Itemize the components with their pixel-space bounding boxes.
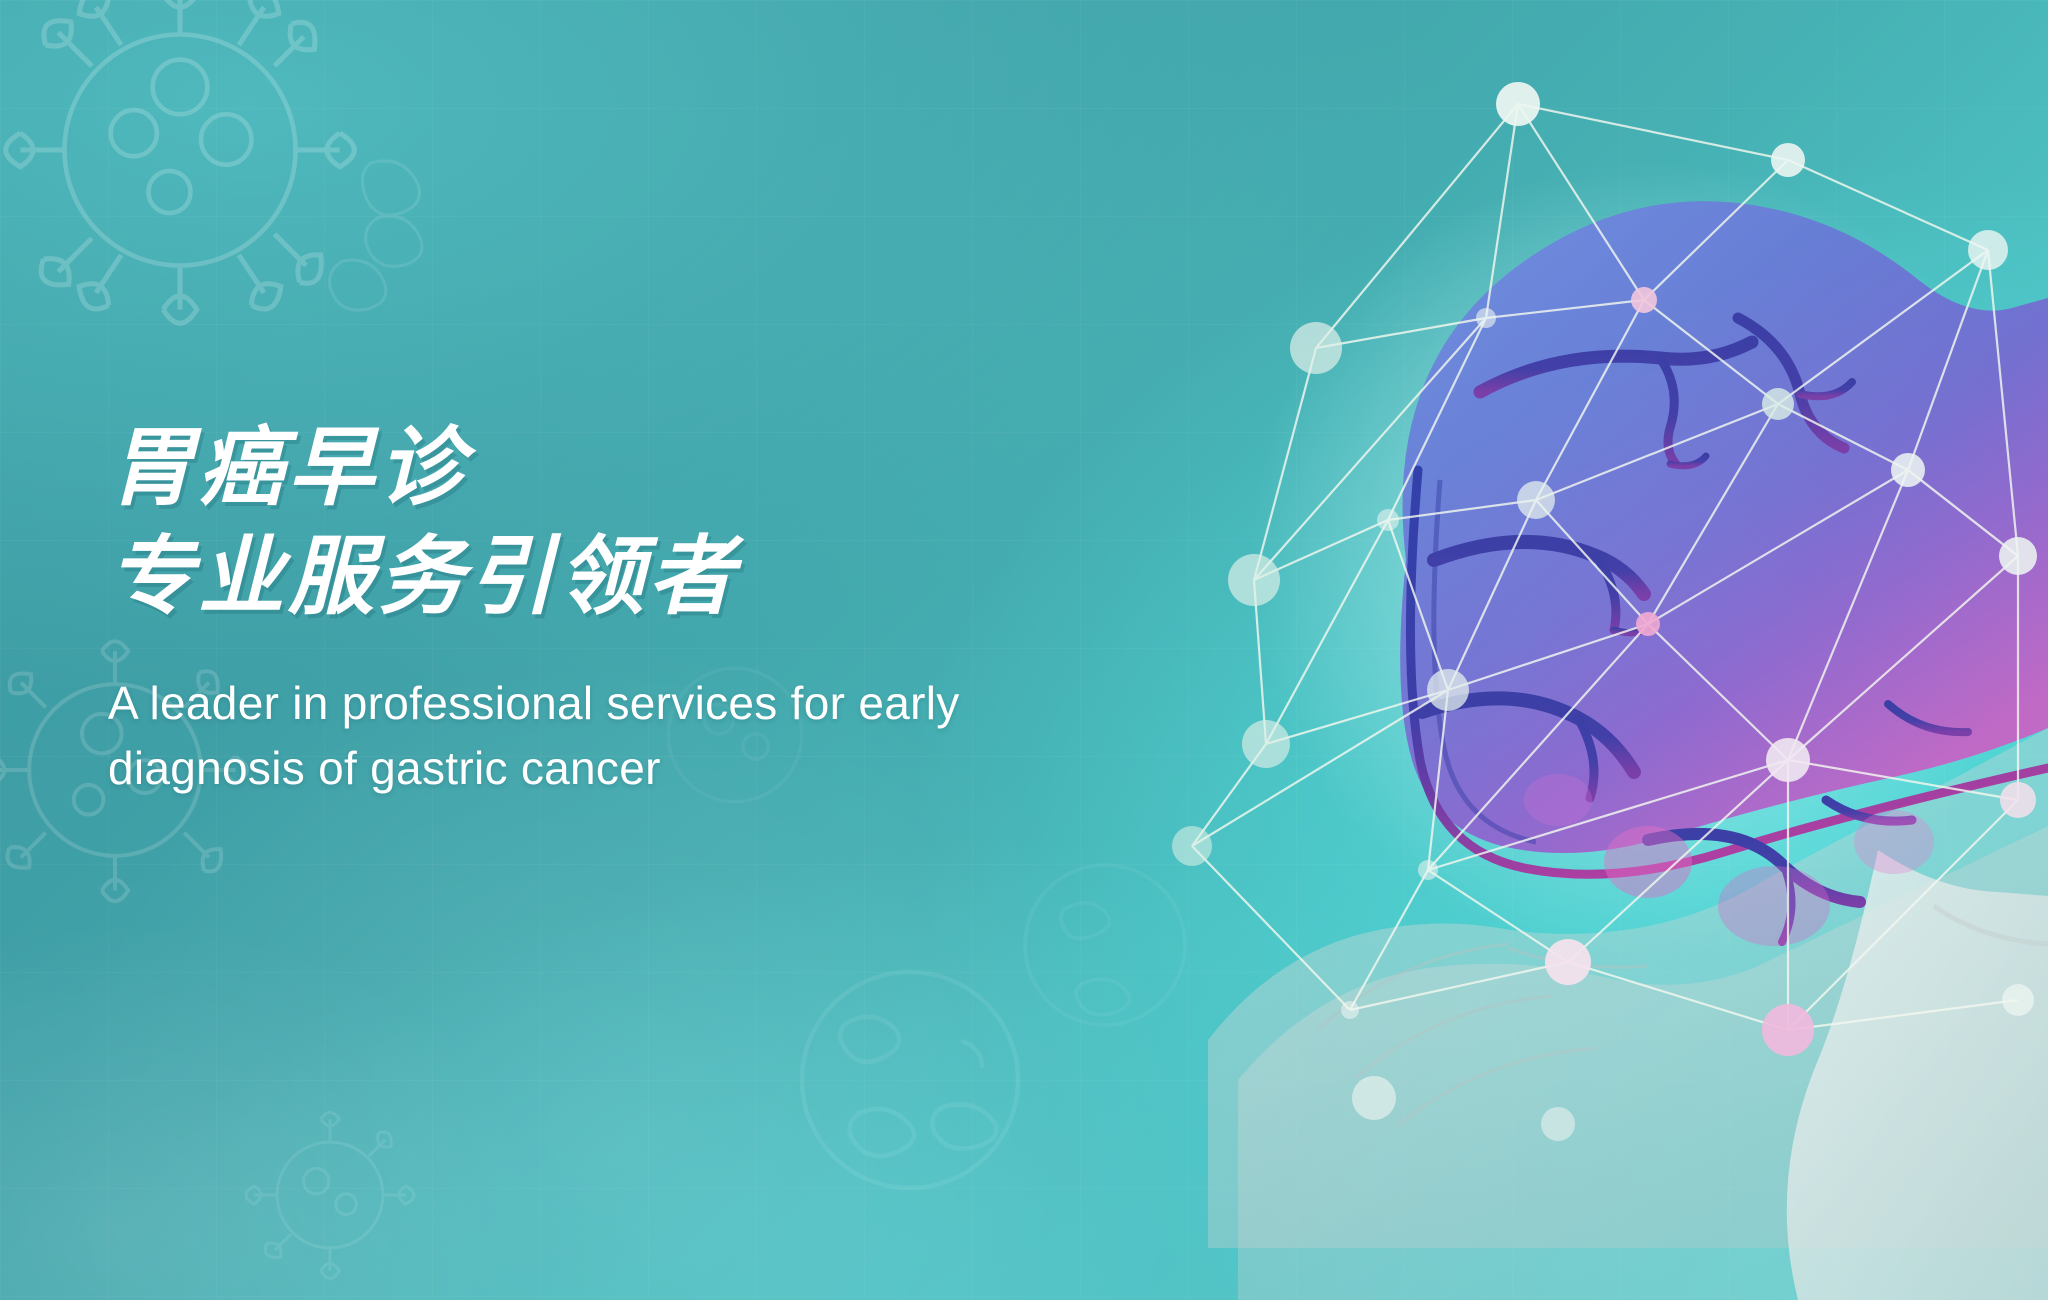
cell-outline-icon xyxy=(980,820,1230,1070)
subtitle-text: A leader in professional services for ea… xyxy=(108,671,1108,802)
banner-root: 胃癌早诊 专业服务引领者 A leader in professional se… xyxy=(0,0,2048,1300)
headline-line-1: 胃癌早诊 xyxy=(108,418,1128,519)
hero-text-block: 胃癌早诊 专业服务引领者 A leader in professional se… xyxy=(108,418,1128,802)
headline-line-2: 专业服务引领者 xyxy=(108,527,1128,628)
virus-outline-icon xyxy=(200,1080,460,1300)
